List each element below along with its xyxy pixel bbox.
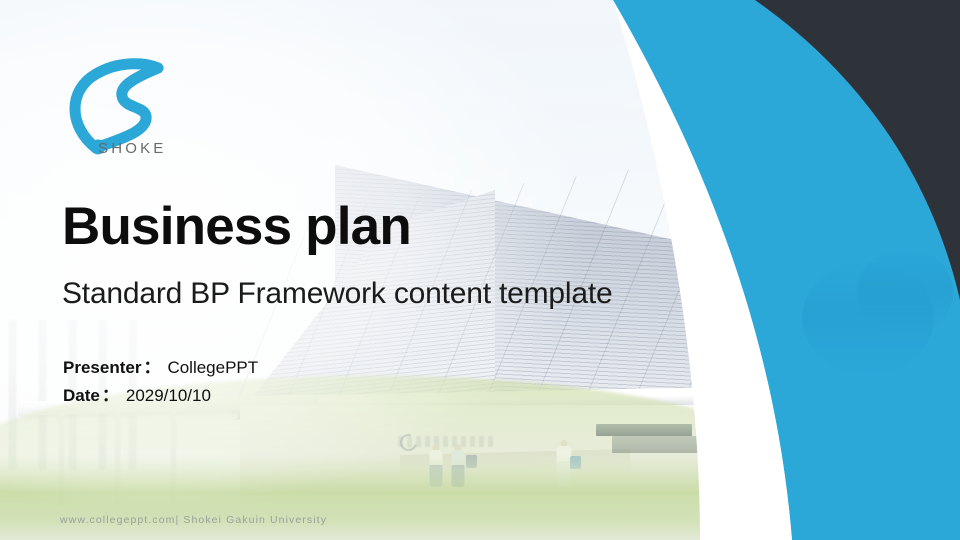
presenter-value: CollegePPT xyxy=(162,358,258,377)
date-separator: ： xyxy=(100,386,121,405)
presentation-meta: Presenter：CollegePPT Date：2029/10/10 xyxy=(63,354,258,410)
date-row: Date：2029/10/10 xyxy=(63,382,258,410)
presenter-row: Presenter：CollegePPT xyxy=(63,354,258,382)
date-value: 2029/10/10 xyxy=(121,386,211,405)
date-label: Date xyxy=(63,386,100,405)
presenter-label: Presenter xyxy=(63,358,141,377)
title-slide: SHOKE Business plan Standard BP Framewor… xyxy=(0,0,960,540)
slide-title: Business plan xyxy=(62,200,411,253)
slide-footer: www.collegeppt.com| Shokei Gakuin Univer… xyxy=(60,514,327,526)
brand-wordmark: SHOKE xyxy=(98,140,167,157)
presenter-separator: ： xyxy=(141,358,162,377)
slide-subtitle: Standard BP Framework content template xyxy=(62,277,612,311)
